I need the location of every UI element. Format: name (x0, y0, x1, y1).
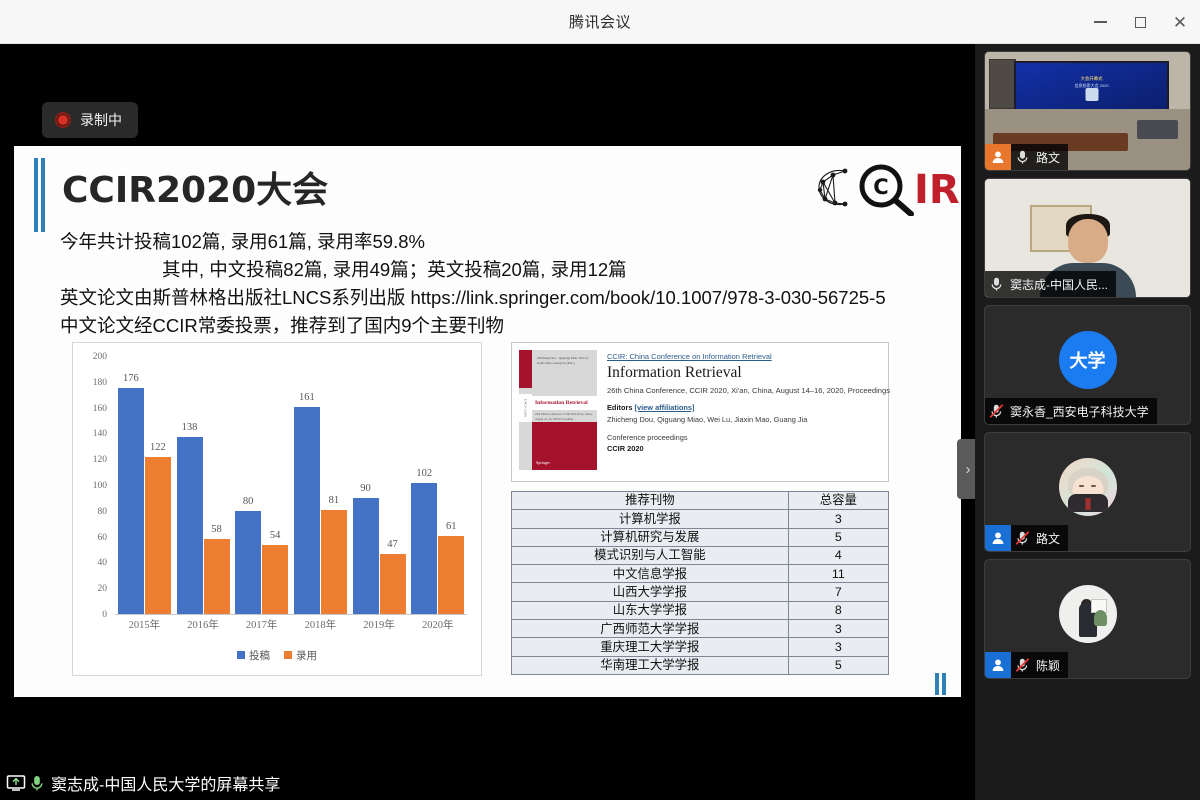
chart-bar-value-label: 138 (182, 422, 198, 433)
user-icon (991, 658, 1005, 672)
chart-x-tick: 2020年 (408, 617, 467, 639)
slide-body-line-0: 今年共计投稿102篇, 录用61篇, 录用率59.8% (60, 228, 940, 256)
chart-bar: 80 (235, 511, 261, 614)
table-column-header: 推荐刊物 (512, 492, 789, 510)
table-row: 模式识别与人工智能4 (512, 546, 889, 564)
table-row: 计算机研究与发展5 (512, 528, 889, 546)
chart-y-tick: 100 (93, 481, 107, 491)
springer-book-card: LNCS 12285 Zhicheng Dou · Qiguang Miao W… (511, 342, 889, 482)
chart-bar-group: 13858 (174, 357, 233, 614)
chart-bar-value-label: 90 (360, 483, 371, 494)
chart-y-tick: 80 (98, 507, 108, 517)
slide-body-line-2: 英文论文由斯普林格出版社LNCS系列出版 https://link.spring… (60, 284, 940, 312)
ccir-logo-icon: C IR (811, 158, 961, 216)
microphone-muted-icon (988, 403, 1005, 419)
screen-share-status-text: 窦志成-中国人民大学的屏幕共享 (48, 771, 280, 795)
screen-share-icon (6, 774, 26, 792)
participant-tile[interactable]: 大会开幕式信息检索大会 2020路文 (984, 51, 1191, 171)
book-series-link[interactable]: CCIR: China Conference on Information Re… (607, 352, 881, 361)
journal-name-cell: 计算机学报 (512, 510, 789, 528)
microphone-muted-icon (1014, 657, 1031, 673)
chart-bar-group: 9047 (350, 357, 409, 614)
book-spine-text: LNCS 12285 (519, 394, 532, 422)
participant-tile[interactable]: 陈颖 (984, 559, 1191, 679)
chart-bar: 138 (177, 437, 203, 614)
chart-y-tick: 180 (93, 378, 107, 388)
journal-capacity-cell: 7 (788, 583, 888, 601)
tencent-meeting-window: 腾讯会议 ✕ 录制中 CCIR2020大会 (0, 0, 1200, 800)
participant-name: 路文 (1033, 149, 1060, 166)
chart-y-tick: 20 (98, 584, 108, 594)
svg-text:C: C (873, 175, 888, 199)
legend-label: 录用 (296, 648, 317, 663)
participant-name-bar: 路文 (985, 144, 1068, 170)
journal-name-cell: 模式识别与人工智能 (512, 546, 789, 564)
chart-plot-area: 17612213858805416181904710261 (115, 357, 467, 615)
avatar (1059, 458, 1117, 516)
chart-bar-value-label: 81 (329, 495, 340, 506)
chart-bar-group: 16181 (291, 357, 350, 614)
recording-label: 录制中 (80, 110, 122, 130)
table-row: 山东大学学报8 (512, 601, 889, 619)
window-controls: ✕ (1080, 0, 1200, 44)
close-button[interactable]: ✕ (1160, 0, 1200, 44)
book-conference-code: CCIR 2020 (607, 444, 881, 453)
chart-y-tick: 120 (93, 455, 107, 465)
microphone-muted-icon (1014, 530, 1031, 546)
journal-capacity-cell: 3 (788, 638, 888, 656)
chart-bar: 102 (411, 483, 437, 614)
submissions-bar-chart: 200180160140120100806040200 176122138588… (72, 342, 482, 676)
participant-name-bar: 陈颖 (985, 652, 1068, 678)
participant-rail[interactable]: 大会开幕式信息检索大会 2020路文窦志成-中国人民...大学窦永香_西安电子科… (975, 44, 1200, 800)
participant-name-bar: 窦永香_西安电子科技大学 (985, 398, 1157, 424)
journal-name-cell: 计算机研究与发展 (512, 528, 789, 546)
app-title: 腾讯会议 (569, 11, 631, 32)
journal-capacity-cell: 8 (788, 601, 888, 619)
screen-share-status-bar: 窦志成-中国人民大学的屏幕共享 (0, 766, 975, 800)
chart-y-tick: 160 (93, 404, 107, 414)
svg-text:IR: IR (914, 167, 960, 213)
chart-x-tick: 2016年 (174, 617, 233, 639)
participant-tile[interactable]: 路文 (984, 432, 1191, 552)
journal-capacity-cell: 5 (788, 528, 888, 546)
book-cover-title: Information Retrieval (535, 400, 588, 406)
book-publisher-label: Springer (536, 460, 550, 465)
chart-y-tick: 200 (93, 352, 107, 362)
collapse-panel-button[interactable]: › (957, 439, 975, 499)
chart-legend: 投稿录用 (81, 645, 473, 665)
book-editors-row: Editors [view affiliations] (607, 403, 881, 412)
book-cover-authors: Zhicheng Dou · Qiguang Miao Wei Lu · Jia… (537, 356, 594, 366)
chart-x-tick: 2018年 (291, 617, 350, 639)
editors-label: Editors (607, 403, 632, 412)
chart-x-axis: 2015年2016年2017年2018年2019年2020年 (115, 617, 467, 639)
chart-bar: 81 (321, 510, 347, 614)
microphone-icon (1015, 149, 1030, 165)
journal-name-cell: 山东大学学报 (512, 601, 789, 619)
slide-body-line-1: 其中, 中文投稿82篇, 录用49篇；英文投稿20篇, 录用12篇 (60, 256, 940, 284)
book-cover-subtitle: 26th China Conference, CCIR 2020 Xi'an, … (535, 412, 597, 421)
chart-bar-value-label: 122 (150, 442, 166, 453)
chart-bar: 90 (353, 498, 379, 614)
table-row: 计算机学报3 (512, 510, 889, 528)
chart-bar-group: 10261 (408, 357, 467, 614)
recommended-journals-table: 推荐刊物总容量 计算机学报3计算机研究与发展5模式识别与人工智能4中文信息学报1… (511, 491, 889, 675)
chart-bar: 176 (118, 388, 144, 614)
chart-bar-value-label: 54 (270, 530, 281, 541)
chart-bar-value-label: 161 (299, 392, 315, 403)
legend-swatch (284, 651, 292, 659)
slide-body-line-3: 中文论文经CCIR常委投票，推荐到了国内9个主要刊物 (60, 312, 940, 340)
participant-avatar-badge (985, 652, 1011, 678)
book-editor-names: Zhicheng Dou, Qiguang Miao, Wei Lu, Jiax… (607, 415, 881, 424)
journal-name-cell: 山西大学学报 (512, 583, 789, 601)
slide-body-text: 今年共计投稿102篇, 录用61篇, 录用率59.8% 其中, 中文投稿82篇,… (60, 228, 940, 340)
chart-bar: 58 (204, 539, 230, 614)
legend-swatch (237, 651, 245, 659)
slide-title: CCIR2020大会 (62, 161, 328, 213)
participant-tile[interactable]: 大学窦永香_西安电子科技大学 (984, 305, 1191, 425)
microphone-icon (29, 774, 45, 792)
journal-name-cell: 中文信息学报 (512, 565, 789, 583)
chart-bar: 47 (380, 554, 406, 614)
chart-x-tick: 2015年 (115, 617, 174, 639)
participant-name: 窦永香_西安电子科技大学 (1007, 403, 1149, 420)
presentation-slide: CCIR2020大会 C IR (14, 146, 961, 697)
avatar: 大学 (1059, 331, 1117, 389)
minimize-button[interactable] (1080, 0, 1120, 44)
chart-bar: 161 (294, 407, 320, 614)
shared-screen-stage: 录制中 CCIR2020大会 C (0, 44, 975, 800)
chart-bar-value-label: 61 (446, 521, 457, 532)
book-cover-image: LNCS 12285 Zhicheng Dou · Qiguang Miao W… (519, 350, 597, 470)
chart-y-tick: 0 (102, 610, 107, 620)
participant-avatar-badge (985, 144, 1011, 170)
chart-y-tick: 40 (98, 558, 108, 568)
chart-bar: 54 (262, 545, 288, 614)
maximize-button[interactable] (1120, 0, 1160, 44)
table-row: 重庆理工大学学报3 (512, 638, 889, 656)
chart-legend-item: 录用 (284, 648, 317, 663)
legend-label: 投稿 (249, 648, 270, 663)
journal-name-cell: 华南理工大学学报 (512, 656, 789, 674)
table-column-header: 总容量 (788, 492, 888, 510)
recording-indicator: 录制中 (42, 102, 138, 138)
participant-name: 路文 (1033, 530, 1060, 547)
chart-bar: 122 (145, 457, 171, 614)
chart-bar: 61 (438, 536, 464, 614)
chart-y-tick: 60 (98, 533, 108, 543)
user-icon (991, 531, 1005, 545)
participant-name-bar: 路文 (985, 525, 1068, 551)
journal-capacity-cell: 5 (788, 656, 888, 674)
chart-x-tick: 2017年 (232, 617, 291, 639)
participant-avatar-badge (985, 525, 1011, 551)
chart-y-tick: 140 (93, 429, 107, 439)
table-row: 山西大学学报7 (512, 583, 889, 601)
chart-x-tick: 2019年 (350, 617, 409, 639)
microphone-icon (989, 276, 1004, 292)
table-row: 中文信息学报11 (512, 565, 889, 583)
avatar (1059, 585, 1117, 643)
view-affiliations-link[interactable]: [view affiliations] (635, 403, 695, 412)
chart-bar-value-label: 47 (387, 539, 398, 550)
chart-bar-value-label: 58 (211, 524, 222, 535)
chart-bar-value-label: 102 (416, 468, 432, 479)
chart-bar-group: 176122 (115, 357, 174, 614)
title-bar: 腾讯会议 ✕ (0, 0, 1200, 44)
user-icon (991, 150, 1005, 164)
chart-bar-value-label: 80 (243, 496, 254, 507)
participant-tile[interactable]: 窦志成-中国人民... (984, 178, 1191, 298)
book-title: Information Retrieval (607, 364, 881, 382)
journal-capacity-cell: 3 (788, 620, 888, 638)
table-row: 广西师范大学学报3 (512, 620, 889, 638)
table-row: 华南理工大学学报5 (512, 656, 889, 674)
book-conference-info: 26th China Conference, CCIR 2020, Xi'an,… (607, 386, 881, 395)
chart-y-axis: 200180160140120100806040200 (81, 357, 111, 615)
participant-name: 陈颖 (1033, 657, 1060, 674)
table-header-row: 推荐刊物总容量 (512, 492, 889, 510)
record-dot-icon (55, 112, 71, 128)
chart-bar-group: 8054 (232, 357, 291, 614)
chart-legend-item: 投稿 (237, 648, 270, 663)
journal-name-cell: 广西师范大学学报 (512, 620, 789, 638)
participant-name-bar: 窦志成-中国人民... (985, 271, 1116, 297)
chart-bar-value-label: 176 (123, 373, 139, 384)
journal-capacity-cell: 3 (788, 510, 888, 528)
journal-capacity-cell: 11 (788, 565, 888, 583)
book-type-label: Conference proceedings (607, 433, 881, 442)
slide-accent-bars-bottom (935, 673, 946, 695)
participant-name: 窦志成-中国人民... (1007, 276, 1108, 293)
journal-capacity-cell: 4 (788, 546, 888, 564)
slide-accent-bars (34, 158, 45, 232)
journal-name-cell: 重庆理工大学学报 (512, 638, 789, 656)
